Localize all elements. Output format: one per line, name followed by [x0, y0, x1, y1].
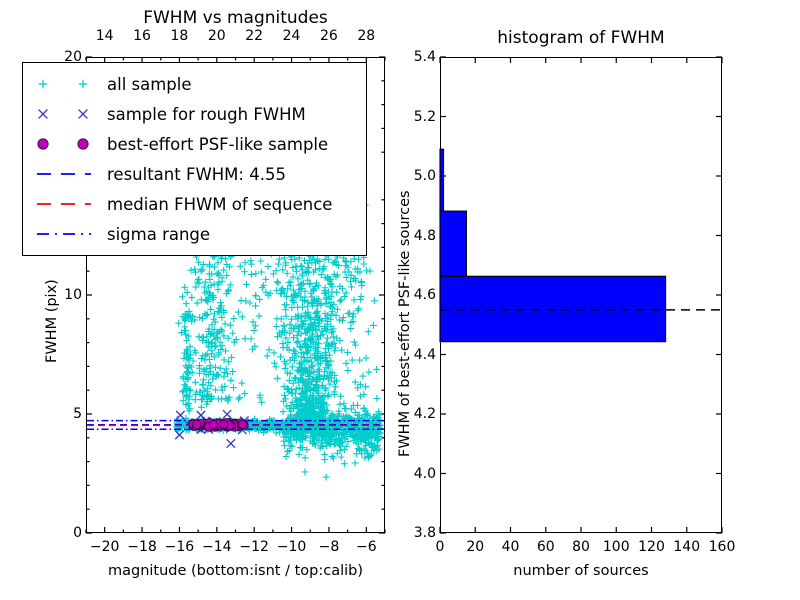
- legend-label-4: median FHWM of sequence: [103, 195, 332, 214]
- right-ytick-5: 4.8: [400, 228, 436, 244]
- legend-item-0: all sample: [29, 69, 358, 99]
- left-xtick-5: −10: [277, 539, 307, 555]
- right-xtick-2: 40: [502, 539, 520, 555]
- right-ytick-0: 3.8: [400, 525, 436, 541]
- right-ytick-8: 5.4: [400, 49, 436, 65]
- right-xtick-7: 140: [673, 539, 700, 555]
- right-ytick-7: 5.2: [400, 109, 436, 125]
- left-xtick-4: −12: [239, 539, 269, 555]
- right-xtick-3: 60: [537, 539, 555, 555]
- right-ytick-3: 4.4: [400, 347, 436, 363]
- right-ytick-1: 4.0: [400, 466, 436, 482]
- histogram-bar-0: [440, 276, 666, 341]
- legend-label-3: resultant FWHM: 4.55: [103, 165, 286, 184]
- legend-item-1: sample for rough FWHM: [29, 99, 358, 129]
- left-xtick-1: −18: [127, 539, 157, 555]
- histogram-bar-2: [440, 149, 444, 211]
- legend-item-4: median FHWM of sequence: [29, 189, 358, 219]
- legend-marker-dashdot-icon: [29, 222, 103, 246]
- right-ytick-2: 4.2: [400, 406, 436, 422]
- legend-marker-cross-icon: [29, 102, 103, 126]
- legend-box: all samplesample for rough FWHMbest-effo…: [22, 62, 367, 256]
- right-xtick-1: 20: [466, 539, 484, 555]
- left-top-xtick-6: 26: [320, 28, 338, 44]
- legend-marker-dashed-icon: [29, 192, 103, 216]
- legend-marker-dashed-icon: [29, 162, 103, 186]
- legend-label-2: best-effort PSF-like sample: [103, 135, 328, 154]
- left-xtick-7: −6: [356, 539, 377, 555]
- right-panel-xlabel: number of sources: [390, 563, 772, 579]
- left-xtick-0: −20: [90, 539, 120, 555]
- right-xtick-6: 120: [638, 539, 665, 555]
- left-xtick-2: −16: [165, 539, 195, 555]
- legend-item-5: sigma range: [29, 219, 358, 249]
- left-top-xtick-0: 14: [96, 28, 114, 44]
- left-top-xtick-5: 24: [283, 28, 301, 44]
- right-ytick-6: 5.0: [400, 168, 436, 184]
- legend-item-3: resultant FWHM: 4.55: [29, 159, 358, 189]
- legend-label-5: sigma range: [103, 225, 210, 244]
- right-ytick-4: 4.6: [400, 287, 436, 303]
- left-top-xtick-3: 20: [208, 28, 226, 44]
- histogram-bar-1: [440, 211, 466, 276]
- legend-marker-plus-icon: [29, 72, 103, 96]
- legend-label-0: all sample: [103, 75, 192, 94]
- left-top-xtick-7: 28: [357, 28, 375, 44]
- right-xtick-5: 100: [603, 539, 630, 555]
- right-xtick-0: 0: [436, 539, 445, 555]
- legend-marker-circle-icon: [29, 132, 103, 156]
- legend-label-1: sample for rough FWHM: [103, 105, 306, 124]
- left-xtick-3: −14: [202, 539, 232, 555]
- right-xtick-4: 80: [572, 539, 590, 555]
- left-top-xtick-2: 18: [171, 28, 189, 44]
- left-top-xtick-1: 16: [133, 28, 151, 44]
- left-xtick-6: −8: [319, 539, 340, 555]
- left-ytick-0: 0: [52, 525, 82, 541]
- left-top-xtick-4: 22: [245, 28, 263, 44]
- left-ytick-1: 5: [52, 406, 82, 422]
- figure-canvas: FWHM vs magnitudes magnitude (bottom:isn…: [0, 0, 800, 600]
- left-ytick-2: 10: [52, 287, 82, 303]
- histogram-bars: [440, 149, 666, 341]
- legend-item-2: best-effort PSF-like sample: [29, 129, 358, 159]
- right-xtick-8: 160: [709, 539, 736, 555]
